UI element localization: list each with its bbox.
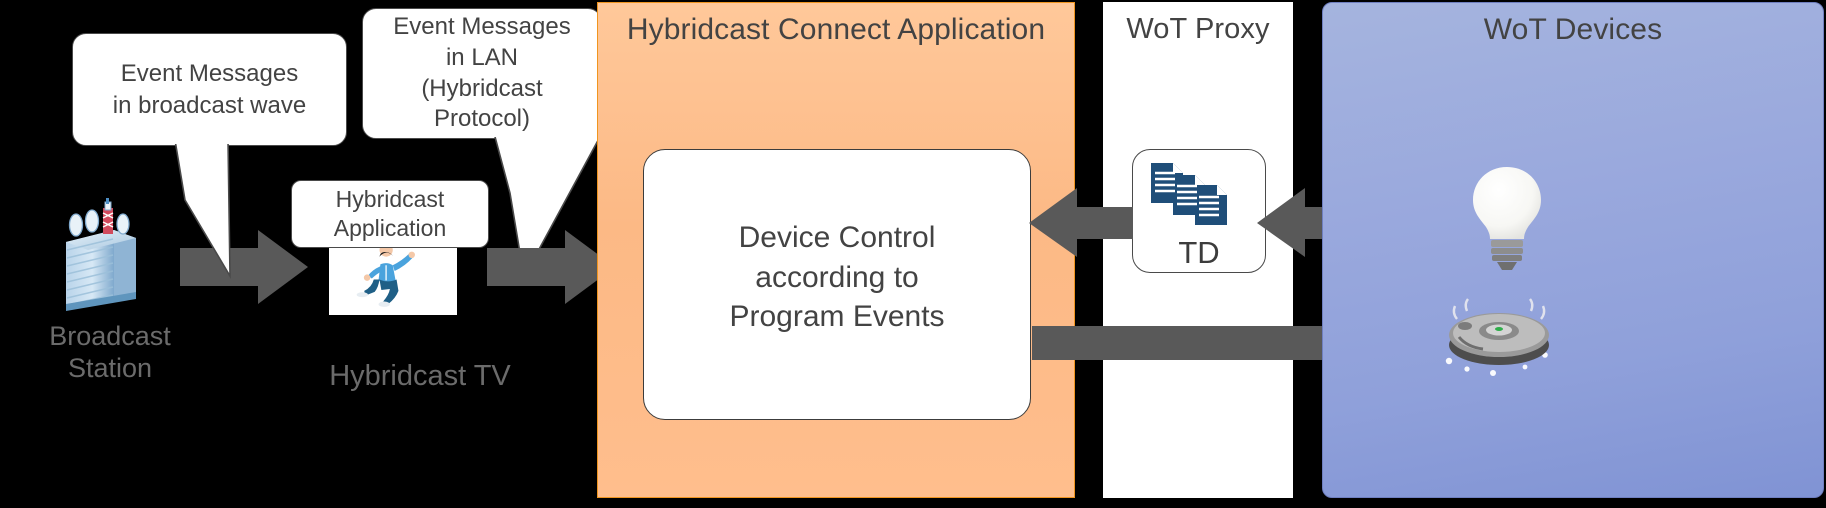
panel-proxy-title: WoT Proxy [1104,13,1292,46]
broadcast-station-label-line2: Station [68,353,152,383]
device-control-line2: according to [755,261,918,294]
documents-icon [1149,159,1253,225]
bubble-hybridcast-application: Hybridcast Application [291,180,489,248]
td-box: TD [1132,149,1266,273]
panel-hybridcast-connect-application: Hybridcast Connect Application Device Co… [597,2,1075,498]
bubble-broadcast-tail [130,138,260,278]
arrow-proxy-to-connect-app [1029,188,1133,258]
lightbulb-icon [1463,163,1551,273]
bubble-hybridcast-app-line1: Hybridcast [336,186,445,212]
hybridcast-tv-label: Hybridcast TV [300,360,540,393]
robot-vacuum-icon [1441,293,1567,377]
device-control-box: Device Control according to Program Even… [643,149,1031,420]
bubble-event-messages-broadcast-wave: Event Messages in broadcast wave [72,33,347,146]
bubble-lan-line3: (Hybridcast [421,75,542,102]
bubble-hybridcast-app-line2: Application [334,215,447,241]
bubble-event-messages-lan: Event Messages in LAN (Hybridcast Protoc… [362,8,602,139]
device-control-text: Device Control according to Program Even… [729,218,944,337]
bubble-lan-line1: Event Messages [393,13,570,40]
diagram-canvas: Broadcast Station [0,0,1826,508]
panel-connect-title: Hybridcast Connect Application [598,13,1074,47]
bubble-lan-line4: Protocol) [434,105,530,132]
panel-wot-devices: WoT Devices [1322,2,1824,498]
broadcast-station-label: Broadcast Station [20,320,200,385]
device-control-line3: Program Events [729,300,944,333]
bubble-broadcast-line1: Event Messages [121,60,298,87]
panel-devices-title: WoT Devices [1323,13,1823,47]
broadcast-station-label-line1: Broadcast [49,321,171,351]
bubble-broadcast-line2: in broadcast wave [113,92,306,119]
device-control-line1: Device Control [739,221,936,254]
bubble-lan-line2: in LAN [446,44,518,71]
td-label: TD [1133,237,1265,268]
hybridcast-tv-screen [329,247,457,315]
